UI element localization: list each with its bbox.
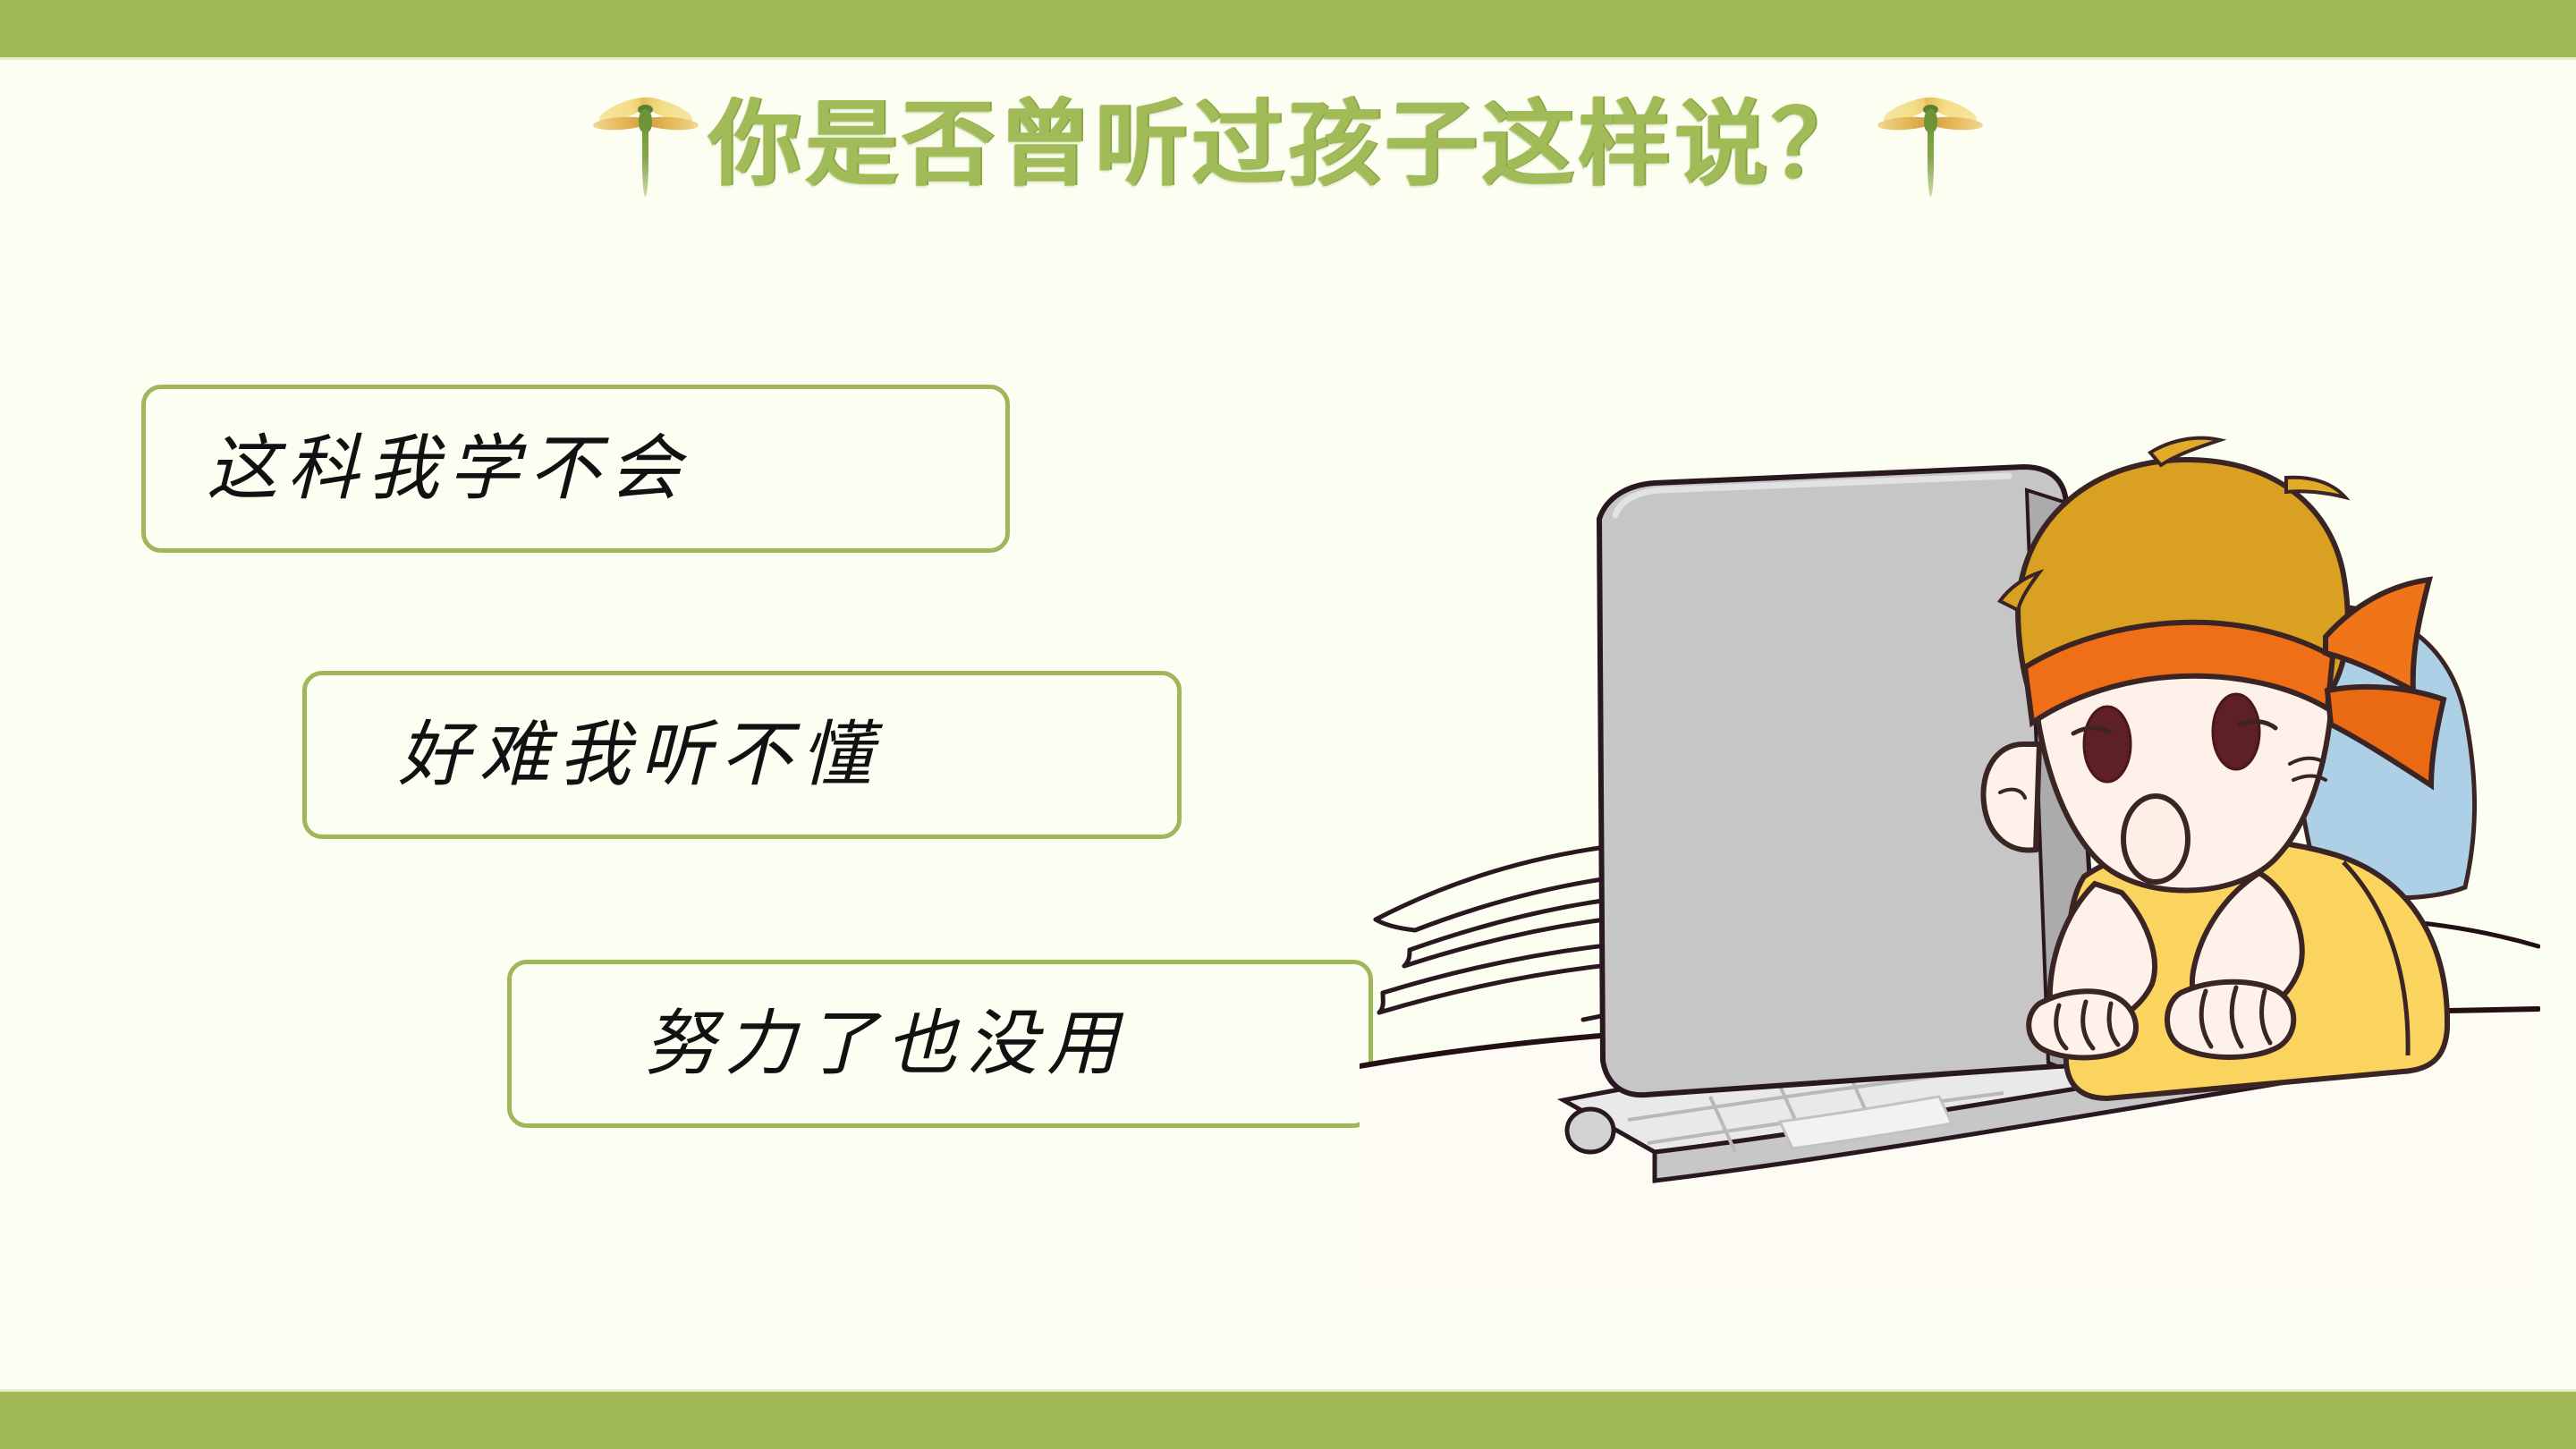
quote-text-1: 这科我学不会 <box>207 433 690 504</box>
quote-box-2: 好难我听不懂 <box>302 671 1182 839</box>
book-3-left-edge <box>1379 993 1383 1013</box>
page-title: 你是否曾听过孩子这样说？ <box>708 97 1868 191</box>
boy-left-eye <box>2084 707 2131 782</box>
boy-at-laptop-svg <box>1360 340 2540 1288</box>
quote-text-3: 努力了也没用 <box>644 1008 1127 1080</box>
dragonfly-tail <box>642 129 648 197</box>
laptop-hinge <box>1567 1109 1614 1152</box>
dragonfly-icon-right <box>1877 77 1984 211</box>
book-2-left-edge <box>1404 950 1410 966</box>
quote-box-1: 这科我学不会 <box>141 385 1010 553</box>
boy-at-laptop-illustration <box>1360 340 2540 1288</box>
boy-right-eye <box>2213 694 2259 769</box>
dragonfly-icon-left <box>592 77 699 211</box>
top-accent-hairline <box>0 57 2576 60</box>
quote-box-3: 努力了也没用 <box>507 960 1373 1128</box>
bottom-accent-hairline <box>0 1389 2576 1392</box>
top-accent-bar <box>0 0 2576 57</box>
slide-canvas: 你是否曾听过孩子这样说？ 这科我学不会 好难我听不懂 努力了也没用 <box>0 0 2576 1449</box>
book-top-left-edge <box>1376 919 1415 930</box>
quote-text-2: 好难我听不懂 <box>398 719 881 791</box>
boy-mouth <box>2123 796 2188 882</box>
dragonfly-tail <box>1928 129 1934 197</box>
page-title-row: 你是否曾听过孩子这样说？ <box>0 77 2576 211</box>
bottom-accent-bar <box>0 1392 2576 1449</box>
